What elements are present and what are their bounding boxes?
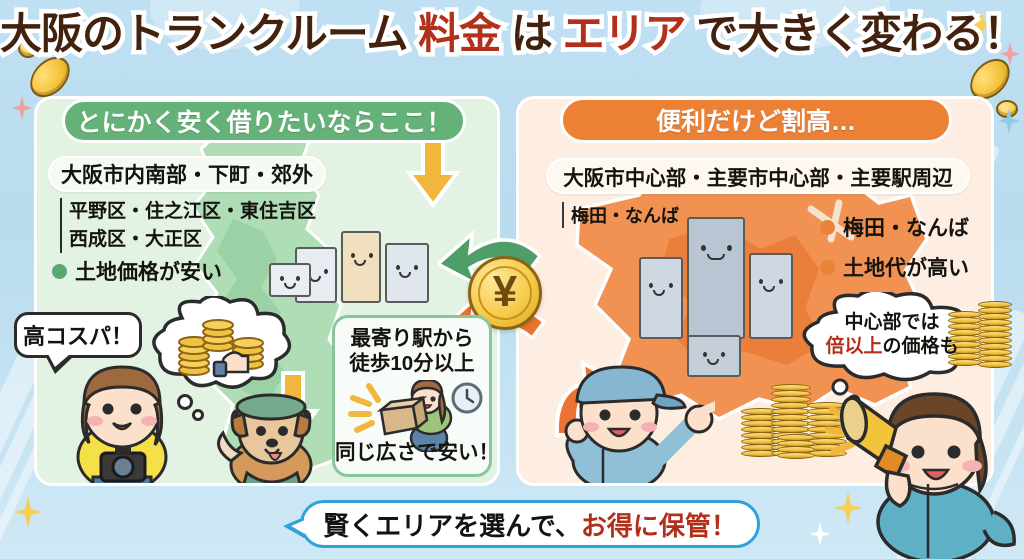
bullet-item: 土地価格が安い (52, 256, 222, 286)
right-panel-note: 梅田・なんば (562, 202, 679, 228)
walk-time-text: 最寄り駅から 徒歩10分以上 (335, 326, 489, 376)
thought-cloud-tail (174, 394, 208, 427)
banner-text-red: お得に保管！ (581, 506, 737, 543)
title-part-2: 料金 (418, 10, 500, 57)
right-panel-bullet-list: 梅田・なんば 土地代が高い (820, 212, 969, 292)
bullet-item: 土地代が高い (820, 252, 969, 282)
bullet-label: 梅田・なんば (843, 212, 969, 242)
bullet-label: 土地価格が安い (75, 256, 222, 286)
infographic-canvas: ！ 大阪のトランクルーム 料金 は エリア で大きく変わる！ (0, 0, 1024, 559)
walk-time-card: 最寄り駅から 徒歩10分以上 同じ広さで安い！ (332, 315, 492, 477)
title-part-3: は (511, 10, 552, 57)
left-panel-bullet-list: 土地価格が安い (52, 256, 222, 296)
bullet-item: 梅田・なんば (820, 212, 969, 242)
left-panel-header: とにかく安く借りたいならここ！ (62, 99, 466, 143)
price-double-thought-text: 中心部では 倍以上の価格も (806, 311, 978, 359)
coin-decoration (996, 100, 1018, 118)
coin-stack-illustration (777, 415, 815, 459)
coin-stack-illustration (978, 272, 1012, 368)
title-part-1: 大阪のトランクルーム (0, 10, 407, 57)
bullet-dot-icon (820, 260, 835, 275)
bullet-dot-icon (820, 220, 835, 235)
bottom-banner: 賢くエリアを選んで、お得に保管！ (300, 500, 760, 548)
thought-line-2-rest: の価格も (883, 336, 959, 357)
coins-thought-cloud (142, 296, 298, 400)
city-buildings-illustration (637, 209, 797, 339)
bullet-label: 土地代が高い (843, 252, 969, 282)
megaphone-boy-illustration (824, 372, 1024, 559)
left-panel-district-list: 平野区・住之江区・東住吉区 西成区・大正区 (60, 198, 316, 253)
title-part-4: エリア (563, 10, 686, 57)
right-panel-header: 便利だけど割高… (560, 97, 952, 143)
dog-illustration (203, 387, 343, 486)
district-line: 西成区・大正区 (69, 226, 316, 254)
thought-line-1: 中心部では (844, 312, 939, 333)
worker-boy-illustration (547, 357, 715, 486)
sparkle-icon (12, 96, 32, 120)
title-part-5: で大きく変わる！ (696, 10, 1024, 57)
thought-line-2: 倍以上の価格も (825, 336, 958, 357)
left-panel-sub-label: 大阪市内南部・下町・郊外 (48, 156, 326, 192)
district-line: 平野区・住之江区・東住吉区 (69, 198, 316, 226)
yen-symbol: ¥ (493, 270, 517, 314)
page-title: 大阪のトランクルーム 料金 は エリア で大きく変わる！ (0, 12, 1024, 56)
walk-line-1: 最寄り駅から (351, 327, 474, 350)
right-panel-sub-label: 大阪市中心部・主要市中心部・主要駅周辺 (546, 158, 970, 194)
bullet-dot-icon (52, 264, 67, 279)
thought-line-2-red: 倍以上 (825, 336, 882, 357)
cheap-speech-bubble: 高コスパ！ (14, 312, 142, 358)
banner-text-dark: 賢くエリアを選んで、 (323, 506, 581, 543)
box-illustration (269, 263, 311, 297)
walk-time-bottom-text: 同じ広さで安い！ (335, 435, 489, 465)
walk-line-2: 徒歩10分以上 (349, 352, 474, 375)
